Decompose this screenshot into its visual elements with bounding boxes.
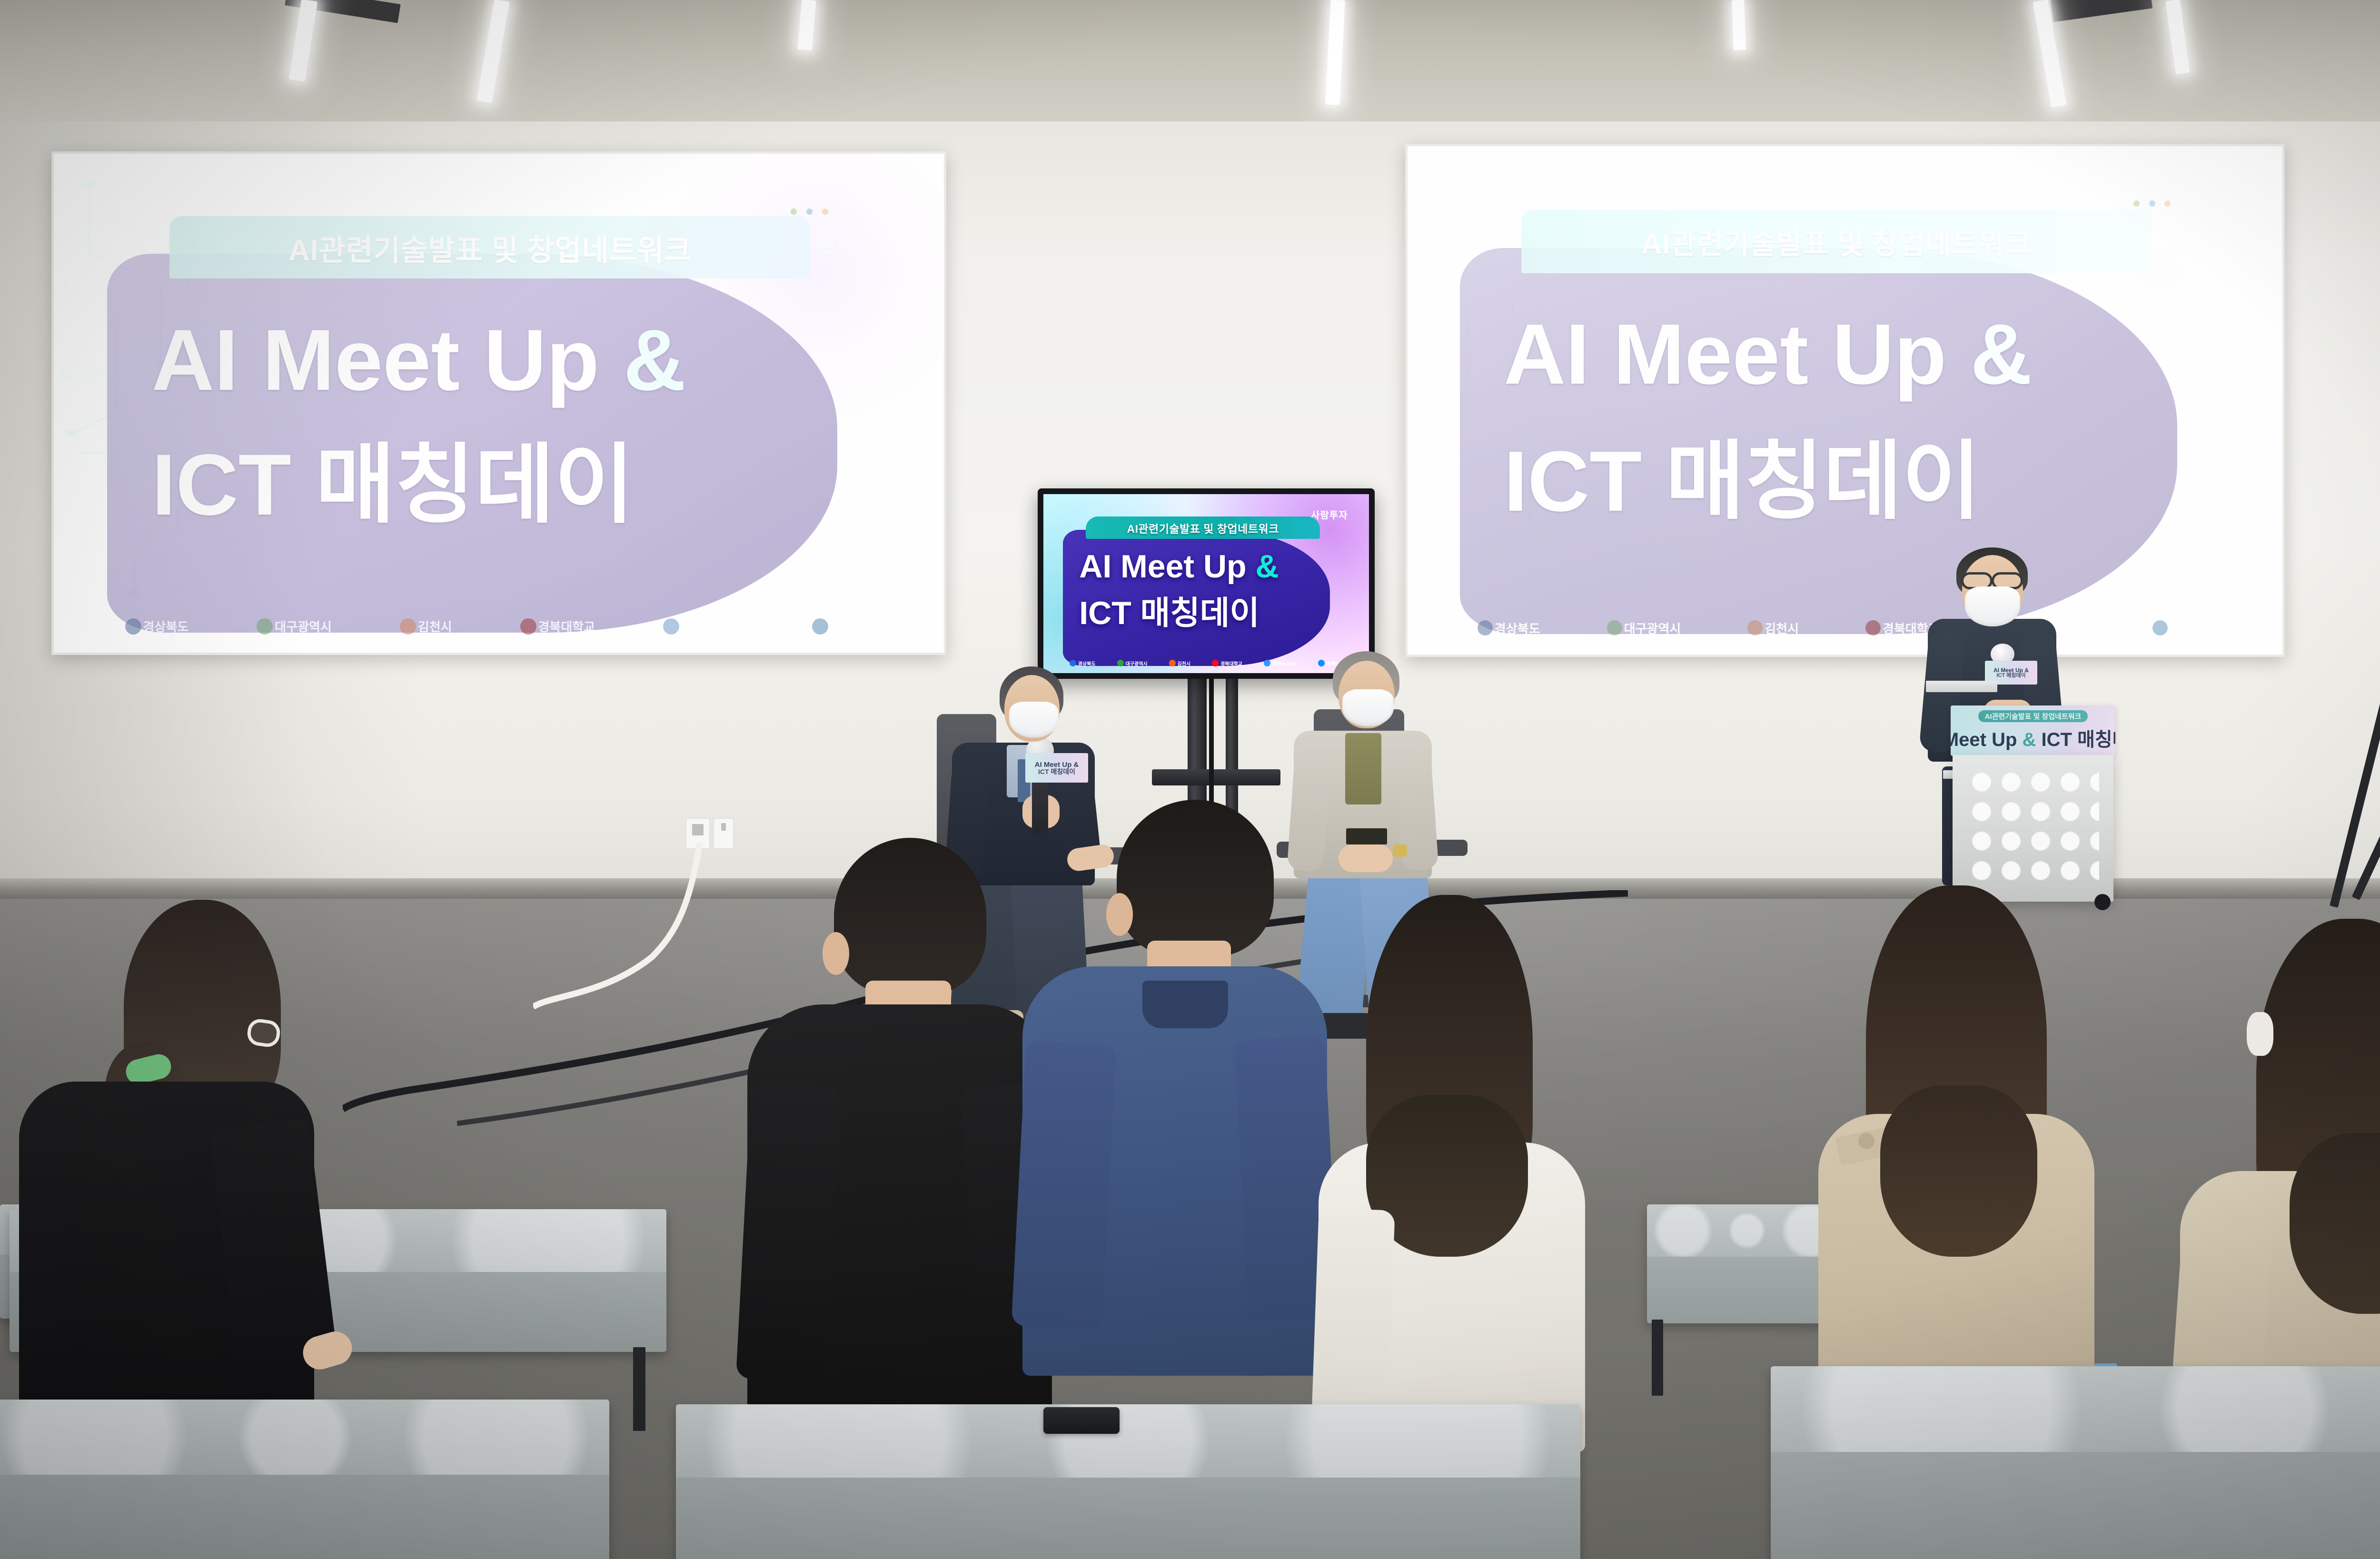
sponsor-mark-icon-0 — [125, 618, 141, 635]
podium-title-b: ICT 매칭데이 — [2042, 729, 2115, 750]
mic-flag-line-2: ICT 매칭데이 — [1038, 768, 1075, 775]
left-slide-content: 사람투자 AI관련기술발표 및 창업네트워크 AI Meet Up & ICT … — [54, 154, 944, 653]
brandmark-dots-right — [2132, 185, 2172, 212]
slide-title-1-text-tv: AI Meet Up — [1079, 548, 1246, 585]
sponsor-name-3: 경북대학교 — [538, 617, 595, 635]
podium-pretitle-text: AI관련기술발표 및 창업네트워크 — [1978, 710, 2088, 722]
podium-title-a: AI Meet Up — [1951, 729, 2017, 750]
right-slide-content: 사람투자 AI관련기술발표 및 창업네트워크 AI Meet Up & ICT … — [1408, 146, 2282, 655]
podium-side-shelf — [1926, 681, 1997, 692]
audience-man-blue-blazer — [1014, 800, 1347, 1371]
slide-title-line-1-right: AI Meet Up & — [1504, 314, 2032, 396]
audience-woman-white-top — [1304, 895, 1599, 1452]
sponsor-mark-icon-2 — [400, 618, 416, 635]
speaker-badge-line-1: AI Meet Up & — [1993, 667, 2029, 673]
sponsor-name-r2: 김천시 — [1765, 619, 1799, 637]
slide-banner-text: AI관련기술발표 및 창업네트워크 — [288, 226, 691, 269]
sponsor-name-0: 경상북도 — [143, 617, 189, 635]
sponsor-mark-icon-5 — [812, 618, 828, 635]
sponsor-logo-1: 대구광역시 — [257, 617, 332, 635]
sponsor-logo-3: 경북대학교 — [520, 617, 595, 635]
slide-title-amp-tv: & — [1256, 548, 1279, 585]
audience-e-button-icon — [1858, 1133, 1874, 1149]
audience-b-arm-left — [736, 1083, 842, 1382]
slide-title-line-1: AI Meet Up & — [152, 318, 686, 402]
audience-woman-black-top — [14, 900, 347, 1452]
sponsor-logo-r1: 대구광역시 — [1607, 619, 1681, 637]
speaker-badge-line-2: ICT 매칭데이 — [1996, 673, 2025, 678]
ottoman-mid-left-leg-a — [633, 1347, 645, 1431]
podium-perforation-pattern — [1967, 767, 2099, 887]
sponsor-name-t1: 대구광역시 — [1126, 660, 1148, 667]
audience-c-ear — [1106, 893, 1133, 936]
ottoman-front-left — [0, 1400, 609, 1559]
audience-c-hair — [1117, 800, 1274, 957]
panelist-2-face-mask — [1342, 689, 1394, 726]
panelist-1-face-mask — [1009, 702, 1059, 738]
sponsor-name-2: 김천시 — [418, 617, 452, 635]
slide-brandmark-tv: 사람투자 — [1311, 507, 1348, 521]
slide-title-line-2: ICT 매칭데이 — [152, 443, 635, 526]
audience-c-arm-left — [1011, 1040, 1116, 1330]
sponsor-mark-icon-4 — [663, 618, 679, 635]
slide-title-line-2-right: ICT 매칭데이 — [1504, 441, 1981, 523]
sponsor-name-1: 대구광역시 — [275, 617, 332, 635]
sponsor-mark-icon-r2 — [1747, 620, 1763, 636]
sponsor-logo-2: 김천시 — [400, 617, 452, 635]
audience-f-mask-strap — [2247, 1012, 2273, 1056]
speaker-face-mask — [1965, 586, 2020, 626]
slide-title-amp: & — [624, 311, 686, 408]
sponsor-name-r1: 대구광역시 — [1624, 619, 1681, 637]
ottoman-front-center — [676, 1404, 1580, 1559]
slide-banner-text-tv: AI관련기술발표 및 창업네트워크 — [1127, 520, 1279, 536]
sponsor-logo-r5: 경북ICT — [2152, 619, 2212, 637]
sponsor-mark-icon-r1 — [1607, 620, 1622, 636]
sponsor-name-t2: 김천시 — [1178, 660, 1191, 667]
microphone-flag-badge: AI Meet Up & ICT 매칭데이 — [1025, 753, 1088, 783]
slide-banner-tv: AI관련기술발표 및 창업네트워크 — [1086, 516, 1320, 539]
sponsor-name-5: 경북ICT — [830, 617, 873, 635]
left-projection-screen: 사람투자 AI관련기술발표 및 창업네트워크 AI Meet Up & ICT … — [51, 151, 946, 655]
podium-title-text: AI Meet Up & ICT 매칭데이 — [1951, 724, 2115, 752]
sponsor-mark-icon-r5 — [2152, 620, 2168, 636]
sponsor-name-4: 대구AI Hub — [681, 617, 744, 635]
sponsor-logo-r0: 경상북도 — [1478, 619, 1540, 637]
audience-e-hair-over — [1880, 1085, 2037, 1257]
slide-title-2-text-right: ICT 매칭데이 — [1504, 434, 1981, 529]
sponsor-logo-4: 대구AI Hub — [663, 617, 744, 635]
ottoman-center-leg-a — [1652, 1320, 1663, 1396]
sponsor-mark-icon-3 — [520, 618, 536, 635]
ceiling-light-strip-5 — [1732, 0, 1746, 50]
sponsor-logo-r2: 김천시 — [1747, 619, 1799, 637]
smartphone-on-bench — [1043, 1407, 1120, 1434]
sponsor-logo-t2: 김천시 — [1169, 660, 1191, 667]
slide-banner: AI관련기술발표 및 창업네트워크 — [169, 216, 810, 278]
event-photo-scene: 사람투자 AI관련기술발표 및 창업네트워크 AI Meet Up & ICT … — [0, 0, 2380, 1559]
mic-flag-line-1: AI Meet Up & — [1035, 761, 1079, 768]
sponsor-logo-row: 경상북도 대구광역시 김천시 경북대학교 대구AI Hub — [125, 617, 873, 635]
sponsor-mark-icon-t3 — [1212, 660, 1219, 666]
audience-b-hair — [834, 838, 986, 995]
slide-title-line-2-tv: ICT 매칭데이 — [1079, 598, 1259, 629]
sponsor-name-r5: 경북ICT — [2170, 619, 2212, 637]
sponsor-name-r0: 경상북도 — [1495, 619, 1540, 637]
podium-sign-panel: AI관련기술발표 및 창업네트워크 AI Meet Up & ICT 매칭데이 — [1951, 705, 2115, 756]
slide-banner-text-right: AI관련기술발표 및 창업네트워크 — [1641, 221, 2031, 262]
ottoman-front-right-cushion — [1771, 1366, 2380, 1452]
brandmark-text-tv: 사람투자 — [1311, 510, 1348, 521]
panelist-2-shirt — [1345, 733, 1381, 804]
slide-title-line-1-tv: AI Meet Up & — [1079, 551, 1279, 582]
sponsor-mark-icon-r0 — [1478, 620, 1493, 636]
slide-title-1-text: AI Meet Up — [152, 311, 599, 408]
sponsor-logo-5: 경북ICT — [812, 617, 873, 635]
sponsor-mark-icon-t2 — [1169, 660, 1176, 666]
podium-title-amp: & — [2023, 729, 2036, 750]
audience-b-ear — [823, 932, 849, 975]
sponsor-mark-icon-1 — [257, 618, 273, 635]
sponsor-name-t3: 경북대학교 — [1220, 660, 1242, 667]
slide-title-amp-right: & — [1970, 307, 2032, 402]
slide-title-1-text-right: AI Meet Up — [1504, 307, 1946, 402]
sponsor-mark-icon-r3 — [1865, 620, 1881, 636]
sponsor-logo-t3: 경북대학교 — [1212, 660, 1242, 667]
right-projection-screen: 사람투자 AI관련기술발표 및 창업네트워크 AI Meet Up & ICT … — [1405, 144, 2285, 657]
panelist-2-belt — [1346, 828, 1387, 844]
outlet-socket-icon — [692, 824, 704, 835]
slide-banner-right: AI관련기술발표 및 창업네트워크 — [1521, 210, 2151, 274]
panelist-2-wristwatch-icon — [1393, 844, 1407, 857]
audience-c-collar — [1142, 981, 1228, 1028]
switch-rocker-icon — [721, 823, 726, 831]
ottoman-front-right — [1771, 1366, 2380, 1559]
slide-title-2-text: ICT 매칭데이 — [152, 436, 635, 533]
podium-body — [1953, 755, 2113, 902]
ottoman-front-left-cushion — [0, 1400, 609, 1475]
slide-title-2-text-tv: ICT 매칭데이 — [1079, 595, 1259, 631]
ottoman-front-center-cushion — [676, 1404, 1580, 1478]
sponsor-logo-0: 경상북도 — [125, 617, 189, 635]
